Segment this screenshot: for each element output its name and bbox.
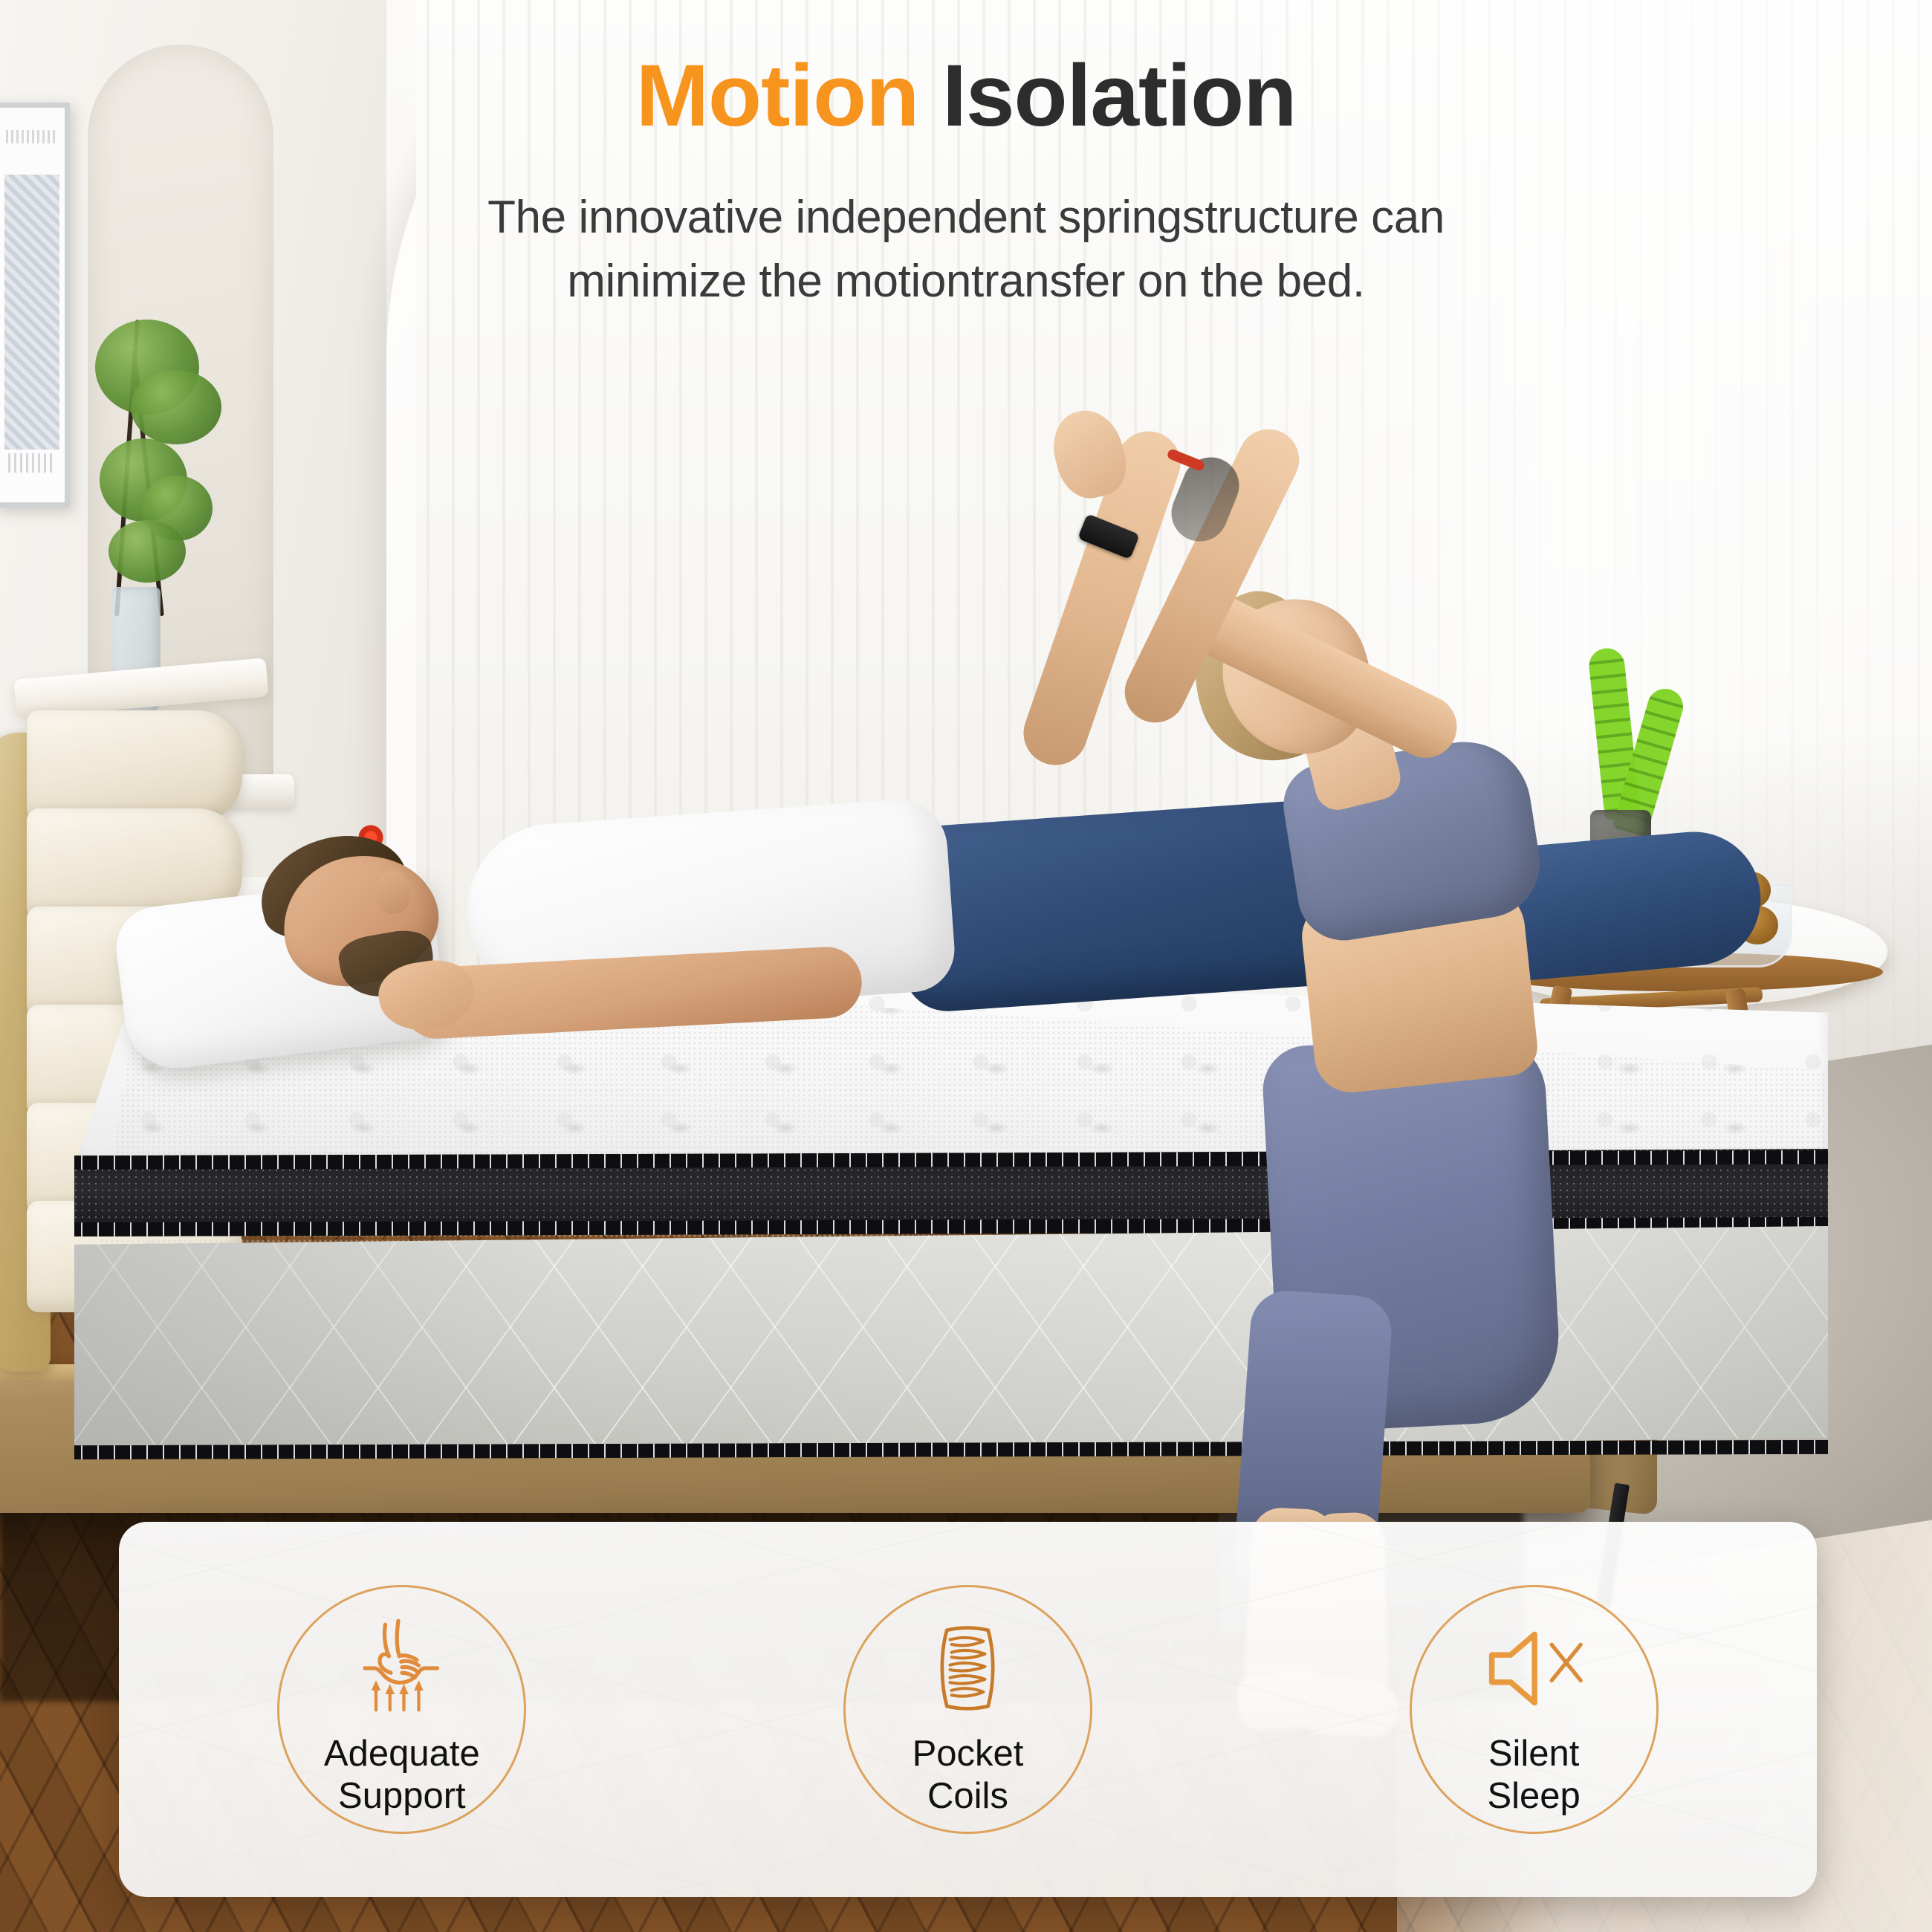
feature-label: Pocket Coils [912, 1733, 1024, 1818]
title-rest: Isolation [942, 47, 1296, 145]
man-ear [376, 871, 410, 914]
feature-adequate-support[interactable]: Adequate Support [277, 1585, 526, 1834]
title-highlight: Motion [636, 47, 919, 145]
feature-silent-sleep[interactable]: Silent Sleep [1410, 1585, 1659, 1834]
stretching-woman [1025, 416, 1546, 1575]
feature-badge-card: Adequate Support Poc [119, 1522, 1817, 1897]
product-feature-banner: Motion Isolation The innovative independ… [0, 0, 1932, 1932]
pocket-coil-spring-icon [908, 1612, 1027, 1724]
mattress-side-shading [74, 1226, 1828, 1456]
feature-pocket-coils[interactable]: Pocket Coils [843, 1585, 1092, 1834]
hand-pressing-support-icon [343, 1612, 461, 1724]
plant-foliage [131, 370, 221, 444]
subtitle-line-2: minimize the motiontransfer on the bed. [0, 250, 1932, 314]
feature-label: Silent Sleep [1487, 1733, 1580, 1818]
plant-foliage [108, 520, 186, 583]
feature-label: Adequate Support [324, 1733, 480, 1818]
page-title: Motion Isolation [0, 49, 1932, 143]
subtitle-line-1: The innovative independent springstructu… [0, 186, 1932, 250]
artwork-caption-bottom [8, 453, 56, 473]
muted-speaker-icon [1474, 1612, 1593, 1724]
page-subtitle: The innovative independent springstructu… [0, 186, 1932, 313]
